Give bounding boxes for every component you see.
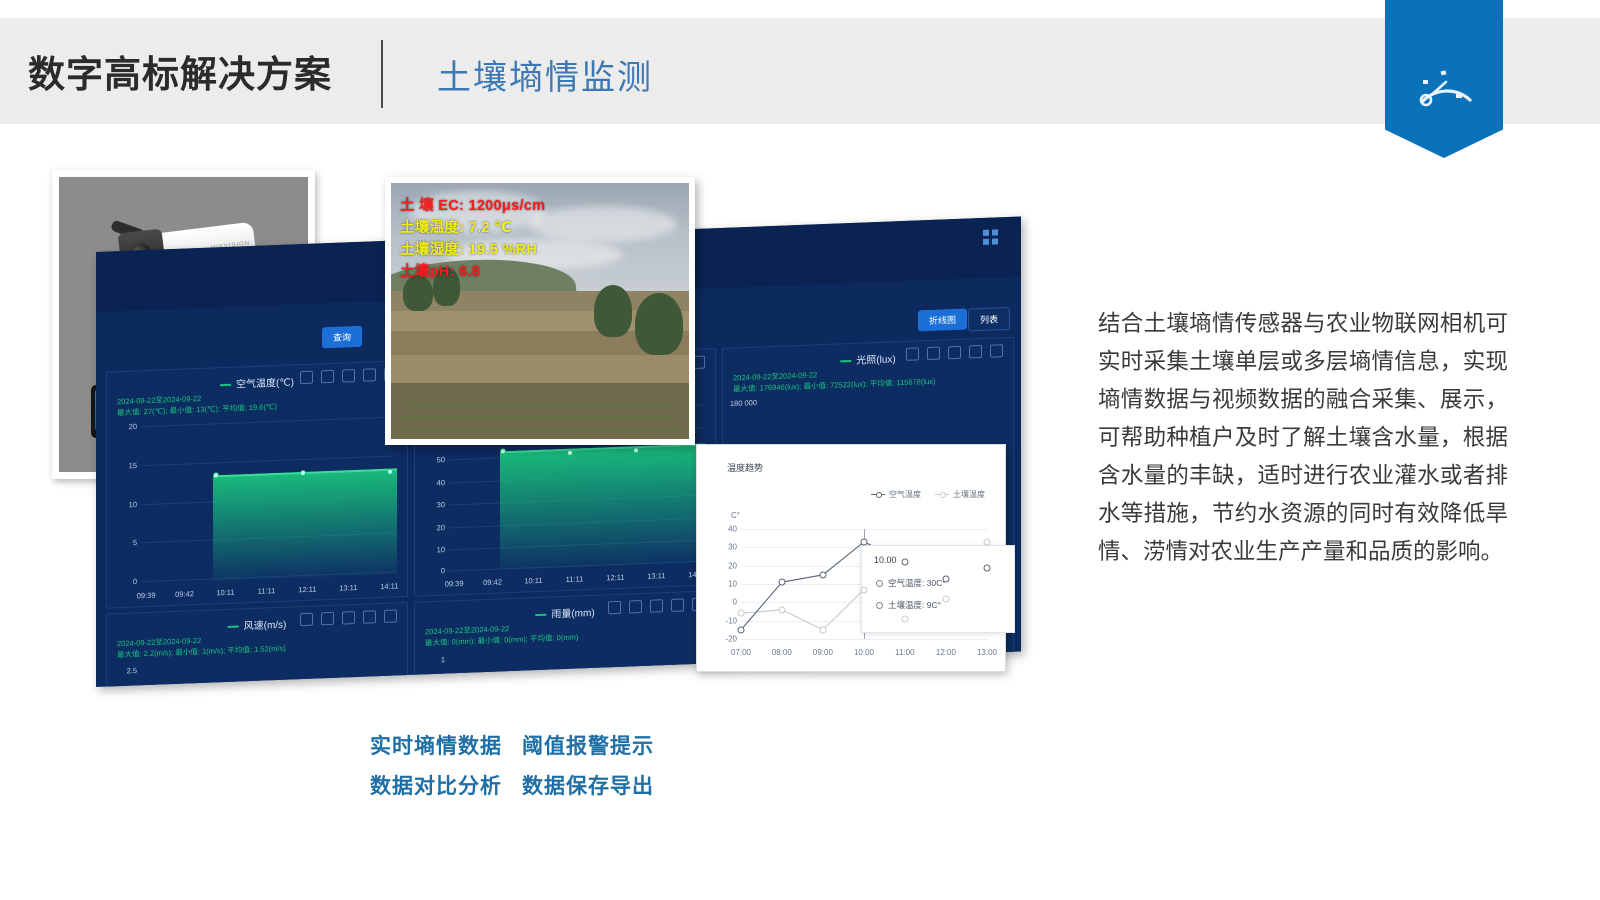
y-tick: 10 — [715, 580, 737, 589]
tooltip-time: 10.00 — [874, 555, 897, 565]
chart-data-point — [738, 610, 745, 617]
x-tick: 11:11 — [258, 586, 276, 596]
x-tick: 12:11 — [298, 585, 316, 595]
description-paragraph: 结合土壤墒情传感器与农业物联网相机可实时采集土壤单层或多层墒情信息，实现墒情数据… — [1098, 305, 1508, 571]
x-tick: 11:11 — [566, 574, 584, 584]
panel-air-temperature: 空气温度(℃) 2024-09-22至2024-09-22 最大值: 27(℃)… — [106, 360, 408, 609]
panel-plot: 1 0.8 — [449, 644, 705, 687]
panel-rainfall: 雨量(mm) 2024-09-22至2024-09-22 最大值: 0(mm);… — [414, 590, 716, 687]
page-title: 土壤墒情监测 — [437, 50, 653, 99]
query-button[interactable]: 查询 — [322, 326, 362, 349]
x-tick: 12:11 — [606, 573, 624, 583]
chart-data-point — [861, 586, 868, 593]
chart-data-point — [779, 579, 786, 586]
chart-data-point — [820, 571, 827, 578]
y-tick: 1 — [419, 655, 445, 665]
chart-title: 温度趋势 — [727, 461, 763, 474]
y-tick: 50 — [419, 455, 445, 465]
terrace-4 — [391, 355, 689, 386]
y-tick: 0.8 — [419, 683, 445, 687]
chart-data-point — [943, 575, 950, 582]
y-tick: 20 — [715, 561, 737, 570]
y-tick: 20 — [111, 422, 137, 432]
feature-row: 实时墒情数据 阈值报警提示 — [370, 730, 790, 760]
y-tick: 0 — [419, 566, 445, 576]
y-tick: 180 000 — [723, 398, 757, 408]
y-tick: 10 — [419, 546, 445, 556]
x-tick: 13:00 — [977, 648, 997, 657]
x-tick: 07:00 — [731, 648, 751, 657]
header-divider — [381, 40, 383, 108]
y-tick: 15 — [111, 461, 137, 471]
x-tick: 10:00 — [854, 648, 874, 657]
panel-title: 光照(lux) — [840, 350, 895, 367]
y-tick: -20 — [715, 635, 737, 644]
legend-item-soil-temperature[interactable]: 土壤温度 — [935, 489, 985, 500]
tooltip-row-air: 空气温度: 30C° — [876, 577, 946, 589]
x-tick: 14:11 — [380, 581, 398, 591]
chart-data-point — [738, 626, 745, 633]
panel-title: 空气温度(℃) — [220, 373, 294, 391]
feature-row: 数据对比分析 数据保存导出 — [370, 770, 790, 800]
grid-icon[interactable] — [983, 229, 999, 246]
chart-data-point — [820, 626, 827, 633]
y-tick: 20 — [419, 523, 445, 533]
y-tick: 5 — [111, 538, 137, 548]
overlay-soil-humidity: 土壤湿度: 19.5 %RH — [400, 238, 537, 259]
chart-data-point — [779, 606, 786, 613]
y-tick: 30 — [715, 543, 737, 552]
panel-tools[interactable] — [300, 367, 397, 384]
chart-data-point — [861, 538, 868, 545]
panel-plot: 20 15 10 5 0 09:39 09:42 10:11 11:11 12:… — [141, 413, 397, 584]
temperature-trend-popup: 温度趋势 空气温度 土壤温度 C° 40 30 20 10 0 -10 -20 … — [696, 444, 1006, 672]
legend-marker-air — [871, 494, 885, 496]
view-toggle-list[interactable]: 列表 — [968, 307, 1010, 332]
x-tick: 12:00 — [936, 648, 956, 657]
feature-data-export: 数据保存导出 — [522, 770, 654, 800]
panel-tools[interactable] — [906, 344, 1003, 361]
x-tick: 09:00 — [813, 648, 833, 657]
chart-tooltip: 10.00 空气温度: 30C° 土壤温度: 9C° — [861, 545, 1015, 633]
y-tick: 0 — [111, 577, 137, 587]
feature-captions: 实时墒情数据 阈值报警提示 数据对比分析 数据保存导出 — [370, 730, 790, 810]
y-tick: 0 — [715, 598, 737, 607]
legend-item-air-temperature[interactable]: 空气温度 — [871, 489, 921, 500]
x-tick: 08:00 — [772, 648, 792, 657]
x-tick: 11:00 — [895, 648, 914, 657]
chart-data-point — [984, 564, 991, 571]
y-tick: -10 — [715, 616, 737, 625]
y-tick: 40 — [419, 478, 445, 488]
chart-data-point — [902, 615, 909, 622]
area-series — [213, 468, 397, 581]
chart-legend[interactable]: 空气温度 土壤温度 — [871, 489, 985, 500]
chart-data-point — [943, 595, 950, 602]
x-tick: 10:11 — [216, 588, 234, 598]
y-axis-label: C° — [731, 511, 740, 520]
chart-data-point — [902, 559, 909, 566]
panel-tools[interactable] — [608, 598, 705, 615]
chart-plot-area: 40 30 20 10 0 -10 -20 07:00 08:00 09:00 … — [741, 529, 987, 639]
x-tick: 13:11 — [339, 583, 357, 593]
y-tick: 2.5 — [111, 665, 137, 675]
overlay-soil-temperature: 土壤温度: 7.2 ℃ — [400, 216, 512, 237]
tooltip-row-soil: 土壤温度: 9C° — [876, 599, 941, 611]
legend-marker-soil — [935, 494, 949, 496]
panel-wind-speed: 风速(m/s) 2024-09-22至2024-09-22 最大值: 2.2(m… — [106, 602, 408, 687]
x-tick: 09:39 — [137, 591, 156, 601]
view-toggle-chart[interactable]: 折线图 — [918, 309, 967, 332]
field-photo-card: 土 壤 EC: 1200μs/cm 土壤温度: 7.2 ℃ 土壤湿度: 19.5… — [385, 177, 695, 445]
overlay-soil-ph: 土壤pH: 6.8 — [400, 260, 480, 281]
feature-realtime-data: 实时墒情数据 — [370, 730, 502, 760]
brand-title: 数字高标解决方案 — [28, 44, 332, 98]
y-tick: 10 — [111, 499, 137, 509]
feature-threshold-alert: 阈值报警提示 — [522, 730, 654, 760]
field-photo: 土 壤 EC: 1200μs/cm 土壤温度: 7.2 ℃ 土壤湿度: 19.5… — [391, 183, 689, 439]
x-tick: 13:11 — [647, 571, 665, 581]
area-series — [500, 443, 705, 570]
panel-title: 风速(m/s) — [228, 616, 287, 633]
y-tick: 30 — [419, 500, 445, 510]
panel-title: 雨量(mm) — [535, 604, 594, 621]
x-tick: 10:11 — [524, 576, 542, 586]
panel-tools[interactable] — [300, 609, 397, 626]
x-tick: 09:42 — [483, 577, 502, 587]
overlay-soil-ec: 土 壤 EC: 1200μs/cm — [400, 194, 545, 215]
x-tick: 09:42 — [175, 589, 194, 599]
feature-comparison-analysis: 数据对比分析 — [370, 770, 502, 800]
x-tick: 09:39 — [445, 579, 464, 589]
gauge-icon — [1412, 52, 1478, 110]
panel-plot: 2.5 2 — [141, 655, 397, 687]
y-tick: 40 — [715, 525, 737, 534]
chart-data-point — [984, 538, 991, 545]
